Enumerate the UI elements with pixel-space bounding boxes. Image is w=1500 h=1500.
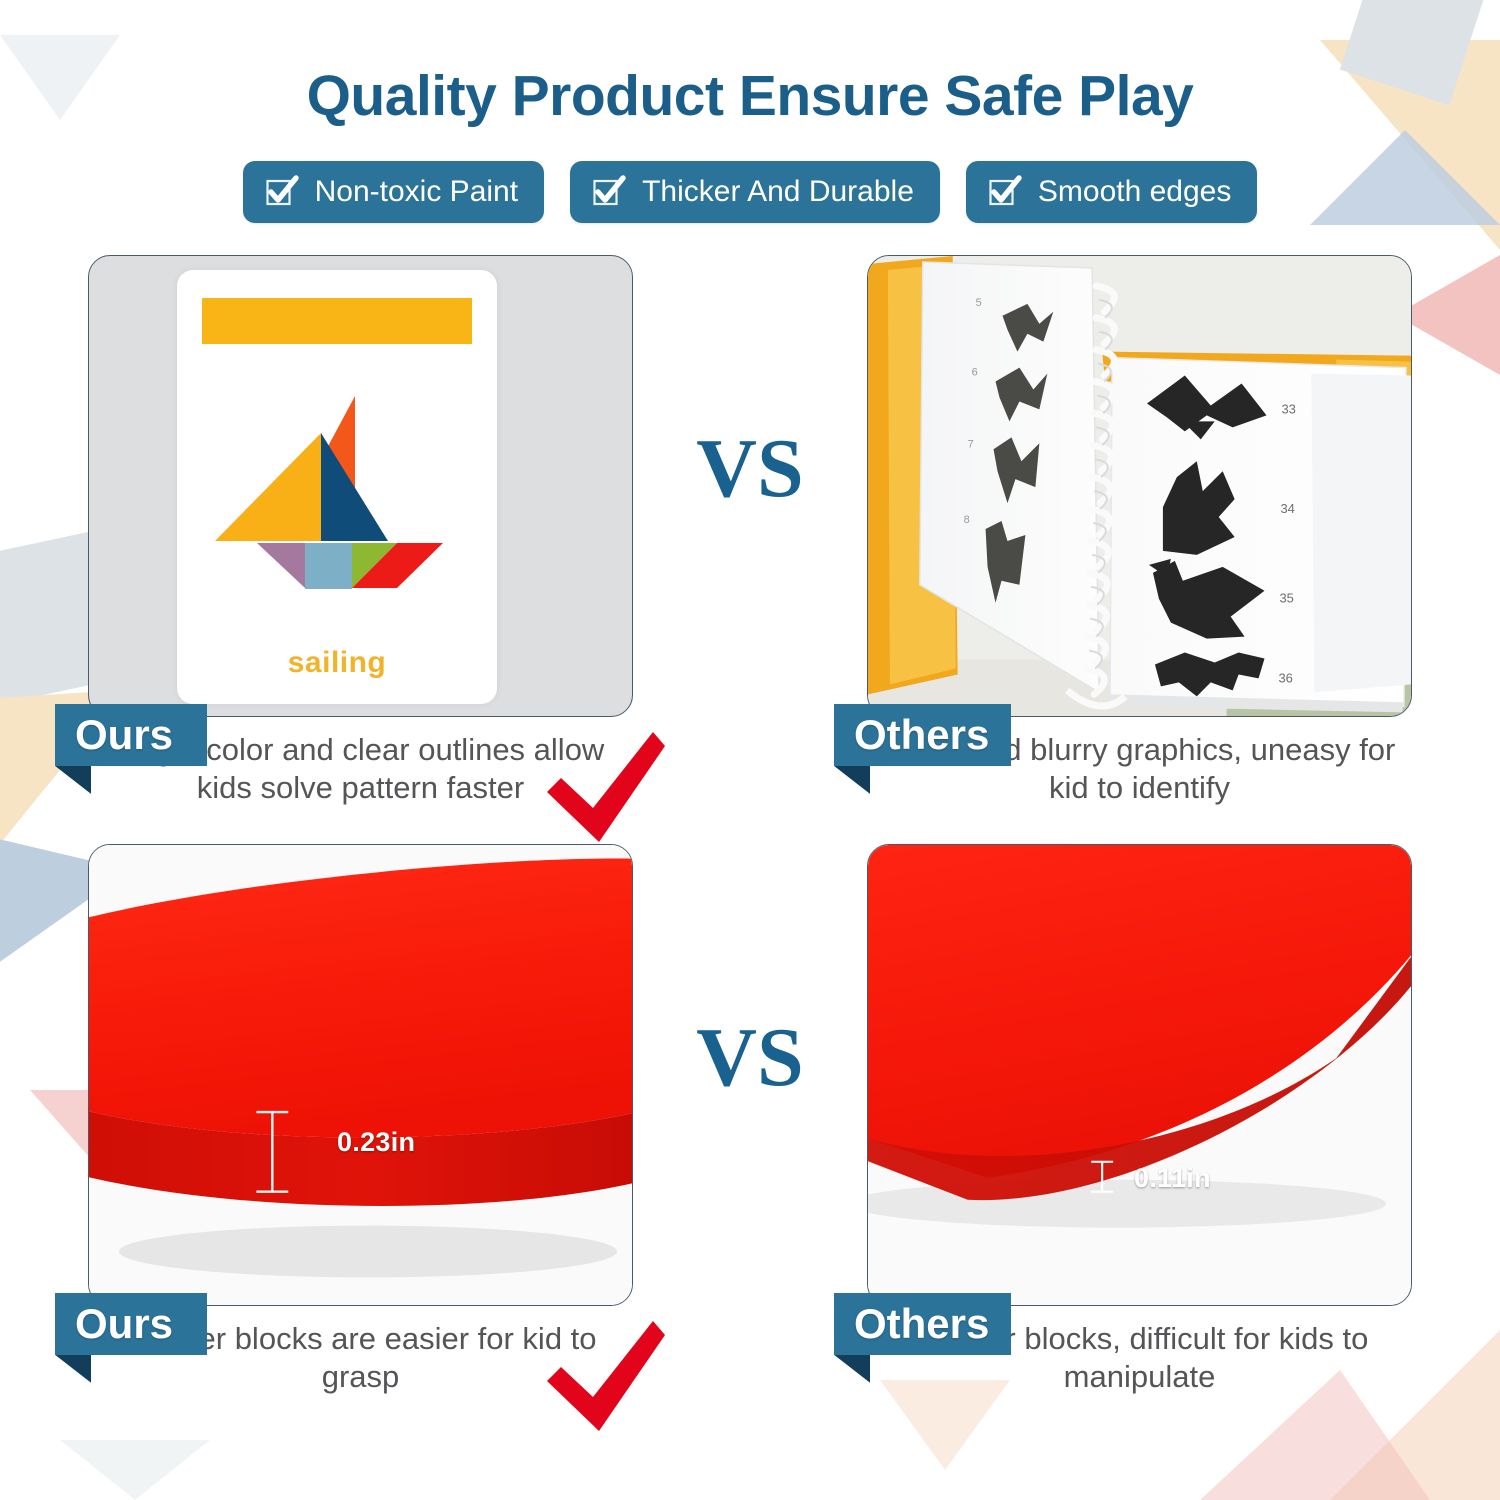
badge-smooth-edges[interactable]: Smooth edges bbox=[966, 161, 1257, 223]
cell-others-graphics: 56 78 bbox=[867, 255, 1412, 808]
block-shadow bbox=[119, 1225, 617, 1277]
ribbon-fold bbox=[55, 766, 91, 794]
ribbon-fold bbox=[834, 1355, 870, 1383]
badge-label: Smooth edges bbox=[1038, 177, 1231, 207]
feature-badge-row: Non-toxic Paint Thicker And Durable Smoo… bbox=[0, 161, 1500, 223]
ribbon-ours: Ours bbox=[55, 704, 207, 766]
ribbon-label: Ours bbox=[75, 714, 173, 756]
panel-others-book[interactable]: 56 78 bbox=[867, 255, 1412, 717]
measurement-label-others: 0.11in bbox=[1134, 1163, 1211, 1194]
vs-separator-bottom: VS bbox=[696, 1016, 803, 1100]
svg-text:5: 5 bbox=[976, 297, 982, 309]
panel-others-thin-block[interactable]: 0.11in bbox=[867, 844, 1412, 1306]
checkbox-check-icon bbox=[592, 175, 626, 209]
spiral-notebook-photo: 56 78 bbox=[868, 256, 1411, 716]
lightblue-square bbox=[305, 543, 352, 589]
badge-label: Non-toxic Paint bbox=[315, 177, 518, 207]
cell-others-thickness: 0.11in Others Thinner blocks, difficult … bbox=[867, 844, 1412, 1397]
badge-thicker-and-durable[interactable]: Thicker And Durable bbox=[570, 161, 940, 223]
measurement-label-ours: 0.23in bbox=[337, 1127, 415, 1158]
panel-ours-thick-block[interactable]: 0.23in bbox=[88, 844, 633, 1306]
checkbox-check-icon bbox=[988, 175, 1022, 209]
card-title-bar bbox=[202, 298, 472, 344]
ribbon-fold bbox=[55, 1355, 91, 1383]
badge-label: Thicker And Durable bbox=[642, 177, 914, 207]
flash-card: sailing bbox=[177, 270, 497, 704]
checkbox-check-icon bbox=[265, 175, 299, 209]
comparison-row-thickness: VS bbox=[88, 844, 1412, 1397]
vs-separator-top: VS bbox=[696, 427, 803, 511]
thick-block-photo bbox=[89, 845, 632, 1305]
approve-check-icon bbox=[535, 720, 675, 860]
svg-text:6: 6 bbox=[972, 367, 978, 379]
approve-check-icon bbox=[535, 1309, 675, 1449]
ribbon-others: Others bbox=[834, 704, 1011, 766]
ribbon-ours: Ours bbox=[55, 1293, 207, 1355]
book-page-right-under bbox=[1311, 374, 1411, 693]
page-number-33: 33 bbox=[1281, 401, 1295, 416]
tangram-sailboat-figure bbox=[213, 388, 463, 608]
card-word-label: sailing bbox=[177, 646, 497, 680]
page-number-35: 35 bbox=[1279, 591, 1293, 606]
purple-triangle bbox=[257, 543, 305, 588]
svg-text:8: 8 bbox=[964, 514, 970, 526]
badge-non-toxic-paint[interactable]: Non-toxic Paint bbox=[243, 161, 544, 223]
ribbon-fold bbox=[834, 766, 870, 794]
page-number-34: 34 bbox=[1280, 501, 1294, 516]
cell-ours-thickness: 0.23in Ours Thicker blocks are easier fo… bbox=[88, 844, 633, 1397]
page-number-36: 36 bbox=[1278, 670, 1292, 685]
svg-text:7: 7 bbox=[968, 438, 974, 450]
ribbon-label: Others bbox=[854, 714, 989, 756]
thin-block-photo bbox=[868, 845, 1411, 1305]
cell-ours-graphics: sailing Ours Bright color and clear outl… bbox=[88, 255, 633, 808]
ribbon-label: Ours bbox=[75, 1303, 173, 1345]
ribbon-others: Others bbox=[834, 1293, 1011, 1355]
comparison-grid: VS bbox=[0, 255, 1500, 1397]
comparison-row-graphics: VS bbox=[88, 255, 1412, 808]
yellow-large-triangle bbox=[215, 433, 321, 541]
infographic-root: Quality Product Ensure Safe Play Non-tox… bbox=[0, 0, 1500, 1500]
ribbon-label: Others bbox=[854, 1303, 989, 1345]
panel-ours-flashcard[interactable]: sailing bbox=[88, 255, 633, 717]
page-title: Quality Product Ensure Safe Play bbox=[0, 0, 1500, 125]
